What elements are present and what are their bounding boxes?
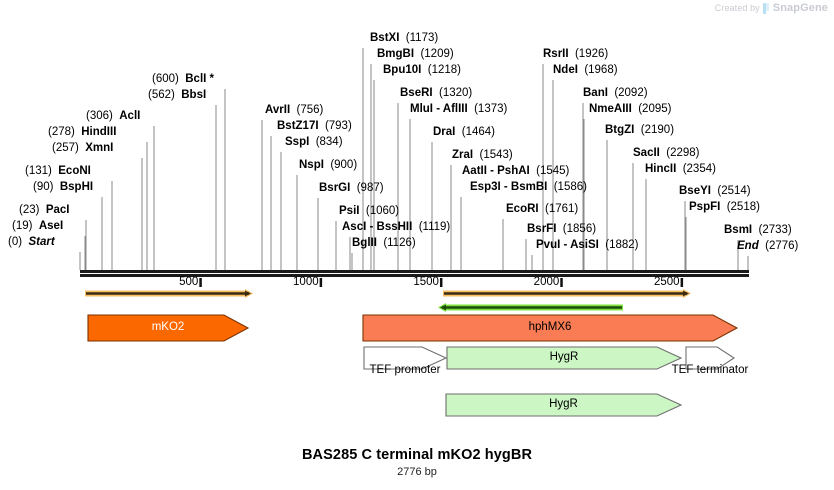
- restriction-site-label[interactable]: BglII (1126): [352, 237, 416, 249]
- site-position: (19): [12, 220, 32, 232]
- site-position: (1882): [605, 239, 638, 251]
- site-position: (23): [19, 204, 39, 216]
- feature-label: TEF promoter: [335, 364, 475, 376]
- ruler-tick-label: 1000: [285, 276, 319, 288]
- enzyme-name: NmeAIII: [589, 103, 632, 115]
- restriction-site-label[interactable]: SspI (834): [285, 136, 343, 148]
- ruler-tick-label: 2000: [525, 276, 559, 288]
- enzyme-name: BstZ17I: [277, 120, 319, 132]
- restriction-site-label[interactable]: (0) Start: [8, 236, 55, 248]
- enzyme-name: XmnI: [85, 142, 113, 154]
- site-position: (0): [8, 236, 22, 248]
- enzyme-name: NspI: [299, 159, 324, 171]
- restriction-site-label[interactable]: AatII - PshAI (1545): [462, 165, 569, 177]
- enzyme-name: DraI: [433, 126, 455, 138]
- primer-arrow-forward-1[interactable]: [85, 289, 253, 298]
- enzyme-name: RsrII: [543, 48, 569, 60]
- site-position: (1320): [439, 87, 472, 99]
- restriction-site-label[interactable]: ZraI (1543): [452, 149, 513, 161]
- restriction-site-label[interactable]: (306) AclI: [86, 110, 140, 122]
- restriction-site-label[interactable]: RsrII (1926): [543, 48, 608, 60]
- enzyme-name: Start: [28, 236, 54, 248]
- site-position: (1464): [462, 126, 495, 138]
- map-title-block: BAS285 C terminal mKO2 hygBR 2776 bp: [0, 447, 834, 478]
- site-position: (987): [357, 182, 384, 194]
- restriction-site-label[interactable]: BtgZI (2190): [605, 124, 674, 136]
- site-position: (2298): [666, 147, 699, 159]
- restriction-site-label[interactable]: BmgBI (1209): [377, 48, 454, 60]
- site-position: (2518): [727, 201, 760, 213]
- enzyme-name: PvuI - AsiSI: [536, 239, 599, 251]
- site-position: (1926): [575, 48, 608, 60]
- site-position: (90): [33, 181, 53, 193]
- sequence-length: 2776 bp: [0, 466, 834, 478]
- ruler-tick: [320, 278, 323, 287]
- site-position: (562): [148, 89, 175, 101]
- restriction-site-label[interactable]: HincII (2354): [645, 163, 716, 175]
- enzyme-name: BmgBI: [377, 48, 414, 60]
- restriction-site-label[interactable]: MluI - AflIII (1373): [410, 103, 507, 115]
- enzyme-name: ZraI: [452, 149, 473, 161]
- ruler-tick-label: 1500: [405, 276, 439, 288]
- enzyme-name: EcoRI: [506, 203, 539, 215]
- enzyme-name: End: [737, 240, 759, 252]
- enzyme-name: SacII: [633, 147, 660, 159]
- site-position: (2092): [614, 87, 647, 99]
- enzyme-name: BbsI: [181, 89, 206, 101]
- site-position: (1545): [536, 165, 569, 177]
- enzyme-name: PspFI: [689, 201, 720, 213]
- feature-label: HygR: [447, 351, 681, 363]
- enzyme-name: AscI - BssHII: [342, 221, 412, 233]
- enzyme-name: AclI: [119, 110, 140, 122]
- restriction-site-label[interactable]: NspI (900): [299, 159, 357, 171]
- restriction-site-label[interactable]: End (2776): [737, 240, 798, 252]
- restriction-site-label[interactable]: BstXI (1173): [370, 32, 438, 44]
- restriction-site-label[interactable]: PspFI (2518): [689, 201, 760, 213]
- enzyme-name: BsrGI: [319, 182, 350, 194]
- restriction-site-label[interactable]: (562) BbsI: [148, 89, 206, 101]
- restriction-site-label[interactable]: DraI (1464): [433, 126, 495, 138]
- restriction-site-label[interactable]: BseYI (2514): [679, 185, 751, 197]
- enzyme-name: BanI: [583, 87, 608, 99]
- enzyme-name: AseI: [39, 220, 63, 232]
- site-position: (2095): [638, 103, 671, 115]
- site-position: (1126): [383, 237, 415, 249]
- enzyme-name: BtgZI: [605, 124, 634, 136]
- enzyme-name: BsmI: [724, 224, 752, 236]
- enzyme-name: AvrII: [265, 104, 290, 116]
- plasmid-linear-map: 5001000150020002500(0) Start(19) AseI(23…: [0, 0, 834, 490]
- site-position: (2354): [683, 163, 716, 175]
- site-position: (1543): [479, 149, 512, 161]
- restriction-site-label[interactable]: SacII (2298): [633, 147, 700, 159]
- site-position: (2733): [759, 224, 792, 236]
- enzyme-name: PacI: [46, 204, 70, 216]
- enzyme-name: BseRI: [400, 87, 433, 99]
- sequence-backbone-top: [80, 270, 749, 273]
- site-position: (1173): [406, 32, 438, 44]
- enzyme-name: MluI - AflIII: [410, 103, 468, 115]
- site-position: (306): [86, 110, 113, 122]
- site-position: (756): [297, 104, 324, 116]
- restriction-site-label[interactable]: (19) AseI: [12, 220, 63, 232]
- enzyme-name: BclI *: [185, 73, 214, 85]
- restriction-site-label[interactable]: BsmI (2733): [724, 224, 792, 236]
- site-position: (1586): [554, 181, 587, 193]
- restriction-site-label[interactable]: Bpu10I (1218): [383, 64, 461, 76]
- ruler-tick: [199, 278, 202, 287]
- feature-label: mKO2: [88, 321, 248, 333]
- site-position: (1218): [428, 64, 461, 76]
- site-position: (1968): [584, 64, 617, 76]
- site-position: (600): [152, 73, 179, 85]
- enzyme-name: PsiI: [339, 205, 359, 217]
- enzyme-name: NdeI: [553, 64, 578, 76]
- enzyme-name: BsrFI: [527, 223, 556, 235]
- site-position: (1209): [420, 48, 453, 60]
- restriction-site-label[interactable]: BsrFI (1856): [527, 223, 596, 235]
- enzyme-name: BseYI: [679, 185, 711, 197]
- site-position: (1060): [366, 205, 399, 217]
- primer-arrow-reverse-1[interactable]: [438, 303, 623, 312]
- enzyme-name: Bpu10I: [383, 64, 421, 76]
- page-title: BAS285 C terminal mKO2 hygBR: [0, 447, 834, 463]
- restriction-site-label[interactable]: (278) HindIII: [48, 126, 116, 138]
- restriction-site-label[interactable]: (257) XmnI: [52, 142, 113, 154]
- feature-label: HygR: [446, 398, 681, 410]
- ruler-tick: [681, 278, 684, 287]
- restriction-site-label[interactable]: BsrGI (987): [319, 182, 384, 194]
- enzyme-name: Esp3I - BsmBI: [470, 181, 547, 193]
- restriction-site-label[interactable]: (23) PacI: [19, 204, 70, 216]
- enzyme-name: SspI: [285, 136, 309, 148]
- site-position: (793): [325, 120, 352, 132]
- restriction-site-label[interactable]: EcoRI (1761): [506, 203, 578, 215]
- restriction-site-label[interactable]: AscI - BssHII (1119): [342, 221, 450, 233]
- restriction-site-label[interactable]: (131) EcoNI: [25, 165, 91, 177]
- restriction-site-label[interactable]: (90) BspHI: [33, 181, 93, 193]
- restriction-site-label[interactable]: AvrII (756): [265, 104, 323, 116]
- enzyme-name: HincII: [645, 163, 676, 175]
- ruler-tick-label: 2500: [646, 276, 680, 288]
- restriction-site-label[interactable]: NmeAIII (2095): [589, 103, 671, 115]
- site-position: (900): [330, 159, 357, 171]
- restriction-site-label[interactable]: PvuI - AsiSI (1882): [536, 239, 638, 251]
- site-position: (1856): [563, 223, 596, 235]
- restriction-site-label[interactable]: BseRI (1320): [400, 87, 472, 99]
- site-position: (1761): [545, 203, 578, 215]
- enzyme-name: EcoNI: [58, 165, 91, 177]
- site-position: (278): [48, 126, 75, 138]
- restriction-site-label[interactable]: PsiI (1060): [339, 205, 399, 217]
- site-position: (131): [25, 165, 52, 177]
- site-position: (257): [52, 142, 79, 154]
- enzyme-name: AatII - PshAI: [462, 165, 530, 177]
- site-position: (2776): [765, 240, 798, 252]
- restriction-site-label[interactable]: BstZ17I (793): [277, 120, 352, 132]
- site-position: (1119): [419, 221, 451, 233]
- site-position: (1373): [474, 103, 507, 115]
- site-position: (2514): [717, 185, 750, 197]
- enzyme-name: BstXI: [370, 32, 399, 44]
- ruler-tick-label: 500: [164, 276, 198, 288]
- ruler-tick: [440, 278, 443, 287]
- restriction-site-label[interactable]: Esp3I - BsmBI (1586): [470, 181, 587, 193]
- restriction-site-label[interactable]: (600) BclI *: [152, 73, 214, 85]
- enzyme-name: BspHI: [60, 181, 93, 193]
- feature-label: hphMX6: [363, 321, 737, 333]
- ruler-tick: [560, 278, 563, 287]
- site-position: (834): [316, 136, 343, 148]
- enzyme-name: HindIII: [81, 126, 116, 138]
- primer-arrow-forward-2[interactable]: [443, 289, 691, 298]
- feature-label: TEF terminator: [640, 364, 780, 376]
- restriction-site-label[interactable]: BanI (2092): [583, 87, 648, 99]
- restriction-site-label[interactable]: NdeI (1968): [553, 64, 618, 76]
- site-position: (2190): [641, 124, 674, 136]
- enzyme-name: BglII: [352, 237, 377, 249]
